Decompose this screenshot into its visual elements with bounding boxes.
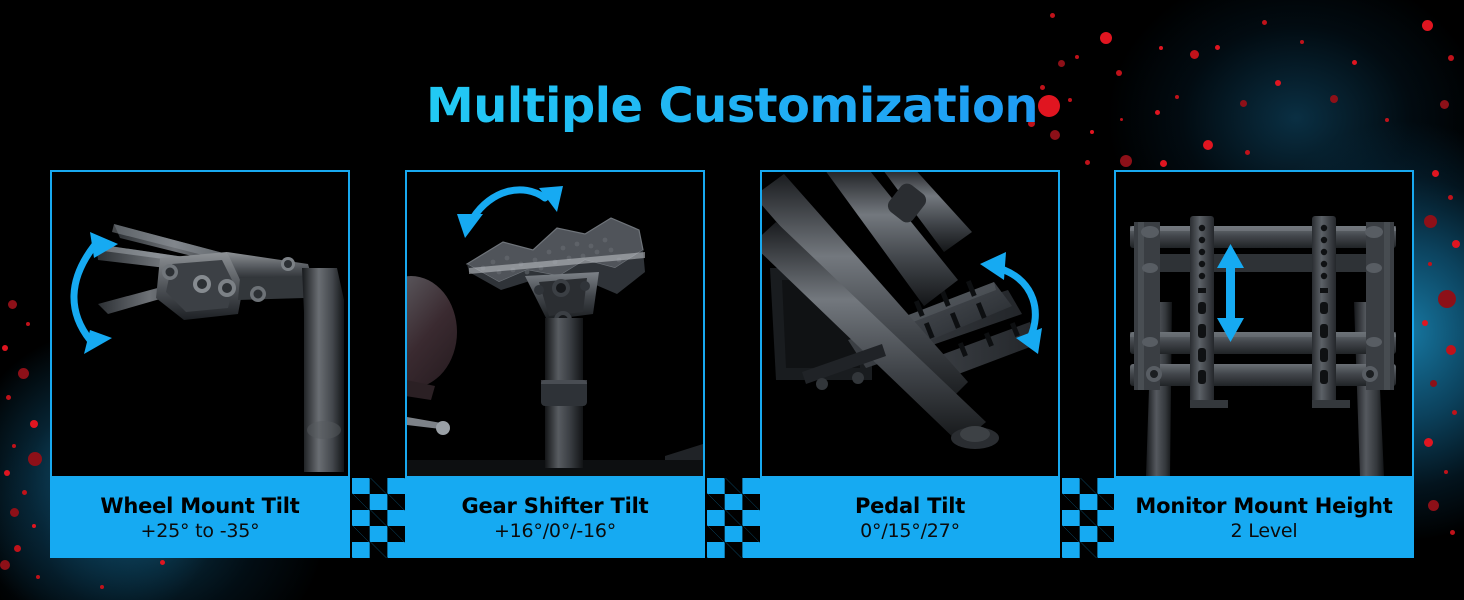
tilt-arrow-icon — [473, 190, 545, 218]
caption-spec: 0°/15°/27° — [860, 522, 960, 542]
page-title: Multiple Customization — [0, 78, 1464, 134]
monitor-mount-artwork — [1116, 172, 1412, 476]
panel-caption: Pedal Tilt 0°/15°/27° — [760, 478, 1060, 558]
panel-image-frame — [405, 170, 705, 478]
pedal-tilt-artwork — [762, 172, 1058, 476]
panel-wheel-mount-tilt[interactable]: Wheel Mount Tilt +25° to -35° — [50, 170, 350, 558]
panel-row: Wheel Mount Tilt +25° to -35° — [0, 170, 1464, 558]
divider-checkerboard-1 — [352, 478, 405, 558]
infographic-stage: Multiple Customization — [0, 0, 1464, 600]
panel-image-frame — [1114, 170, 1414, 478]
panel-caption: Gear Shifter Tilt +16°/0°/-16° — [405, 478, 705, 558]
caption-title: Pedal Tilt — [855, 495, 965, 517]
gear-shifter-artwork — [407, 172, 703, 476]
caption-spec: +16°/0°/-16° — [494, 522, 616, 542]
panel-image-frame — [50, 170, 350, 478]
caption-spec: +25° to -35° — [141, 522, 260, 542]
panel-monitor-mount-height[interactable]: Monitor Mount Height 2 Level — [1114, 170, 1414, 558]
divider-checkerboard-2 — [707, 478, 760, 558]
panel-pedal-tilt[interactable]: Pedal Tilt 0°/15°/27° — [760, 170, 1060, 558]
panel-caption: Monitor Mount Height 2 Level — [1114, 478, 1414, 558]
caption-title: Monitor Mount Height — [1135, 495, 1392, 517]
caption-title: Gear Shifter Tilt — [461, 495, 648, 517]
divider-checkerboard-3 — [1062, 478, 1115, 558]
panel-caption: Wheel Mount Tilt +25° to -35° — [50, 478, 350, 558]
wheel-mount-artwork — [52, 172, 348, 476]
caption-title: Wheel Mount Tilt — [100, 495, 299, 517]
caption-spec: 2 Level — [1231, 522, 1298, 542]
panel-gear-shifter-tilt[interactable]: Gear Shifter Tilt +16°/0°/-16° — [405, 170, 705, 558]
panel-image-frame — [760, 170, 1060, 478]
tilt-arrow-icon — [74, 246, 94, 340]
